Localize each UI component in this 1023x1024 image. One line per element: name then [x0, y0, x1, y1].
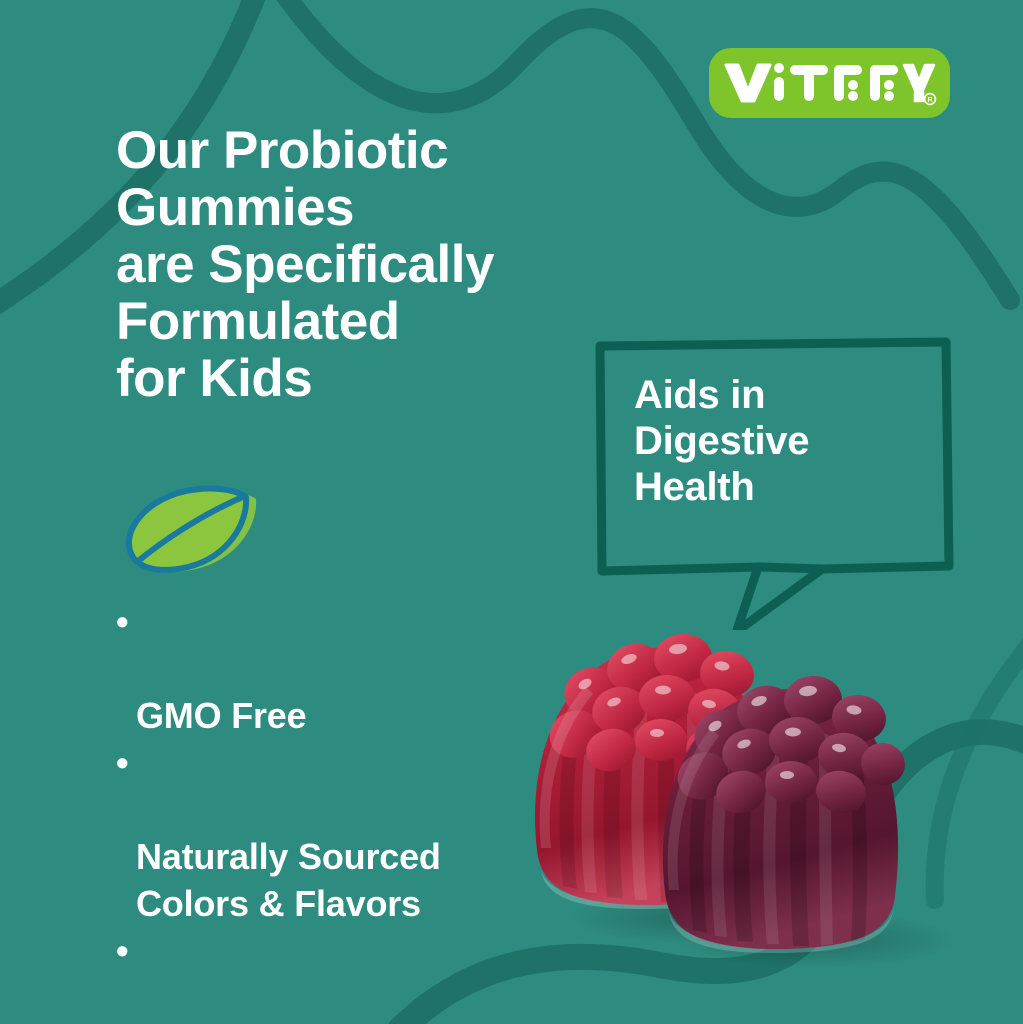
callout-speech-bubble: Aids in Digestive Health — [590, 330, 960, 630]
bullet-icon: • — [116, 739, 128, 786]
bullet-icon: • — [116, 598, 128, 645]
product-marketing-poster: R Our Probiotic Gummies are Specifically… — [0, 0, 1023, 1024]
list-item: • Naturally Sourced Colors & Flavors — [116, 739, 546, 927]
leaf-icon — [118, 481, 268, 577]
headline-line-2: Gummies — [116, 179, 716, 236]
product-gummies-image — [515, 600, 985, 980]
brand-logo-badge: R — [709, 48, 950, 118]
callout-line-3: Health — [634, 464, 924, 510]
headline-line-1: Our Probiotic — [116, 122, 716, 179]
list-item: • GMO Free — [116, 598, 546, 739]
list-item: • Gelatin Free — [116, 927, 546, 1024]
benefit-label: GMO Free — [136, 695, 306, 736]
benefits-list: • GMO Free • Naturally Sourced Colors & … — [116, 598, 546, 1024]
callout-line-2: Digestive — [634, 418, 924, 464]
callout-text: Aids in Digestive Health — [634, 372, 924, 510]
benefit-label: Naturally Sourced Colors & Flavors — [136, 836, 441, 924]
headline-line-3: are Specifically — [116, 236, 716, 293]
registered-trademark-icon: R — [925, 94, 936, 105]
brand-wordmark: R — [722, 59, 937, 107]
callout-line-1: Aids in — [634, 372, 924, 418]
bullet-icon: • — [116, 927, 128, 974]
svg-text:R: R — [927, 97, 932, 104]
